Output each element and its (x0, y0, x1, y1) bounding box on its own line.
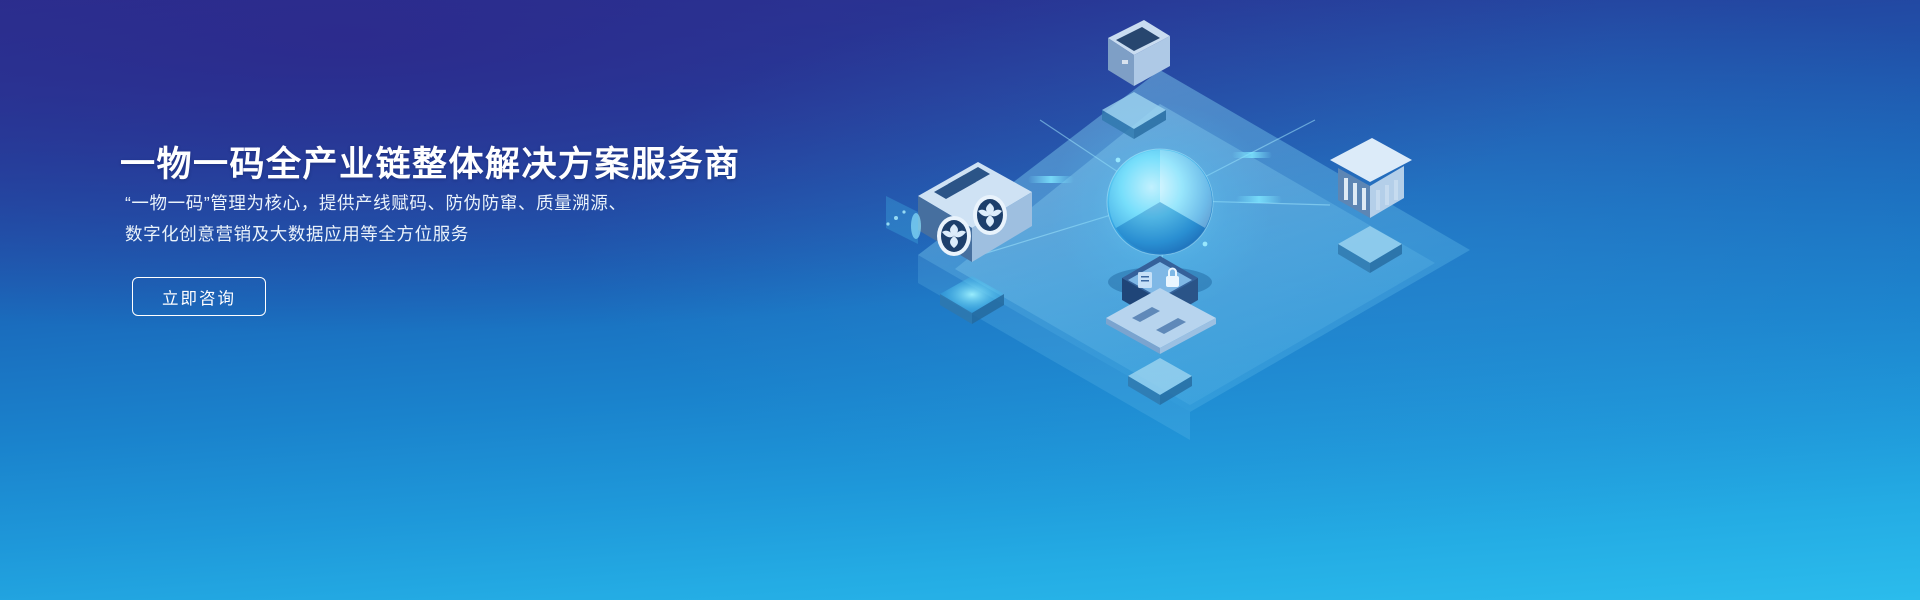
hero-subtitle: “一物一码”管理为核心，提供产线赋码、防伪防窜、质量溯源、 数字化创意营销及大数… (125, 188, 785, 250)
hero-banner: 一物一码全产业链整体解决方案服务商 “一物一码”管理为核心，提供产线赋码、防伪防… (0, 0, 1920, 600)
hero-illustration (860, 0, 1500, 600)
signal-emitter-icon (886, 196, 921, 244)
document-icon (1138, 272, 1152, 288)
subtitle-line-2: 数字化创意营销及大数据应用等全方位服务 (125, 219, 785, 250)
hero-content: 一物一码全产业链整体解决方案服务商 “一物一码”管理为核心，提供产线赋码、防伪防… (120, 0, 820, 600)
subtitle-line-1: “一物一码”管理为核心，提供产线赋码、防伪防窜、质量溯源、 (125, 188, 785, 219)
page-title: 一物一码全产业链整体解决方案服务商 (120, 136, 741, 187)
fan-icon (973, 195, 1007, 235)
consult-now-button[interactable]: 立即咨询 (132, 277, 266, 316)
fan-icon (937, 216, 971, 256)
